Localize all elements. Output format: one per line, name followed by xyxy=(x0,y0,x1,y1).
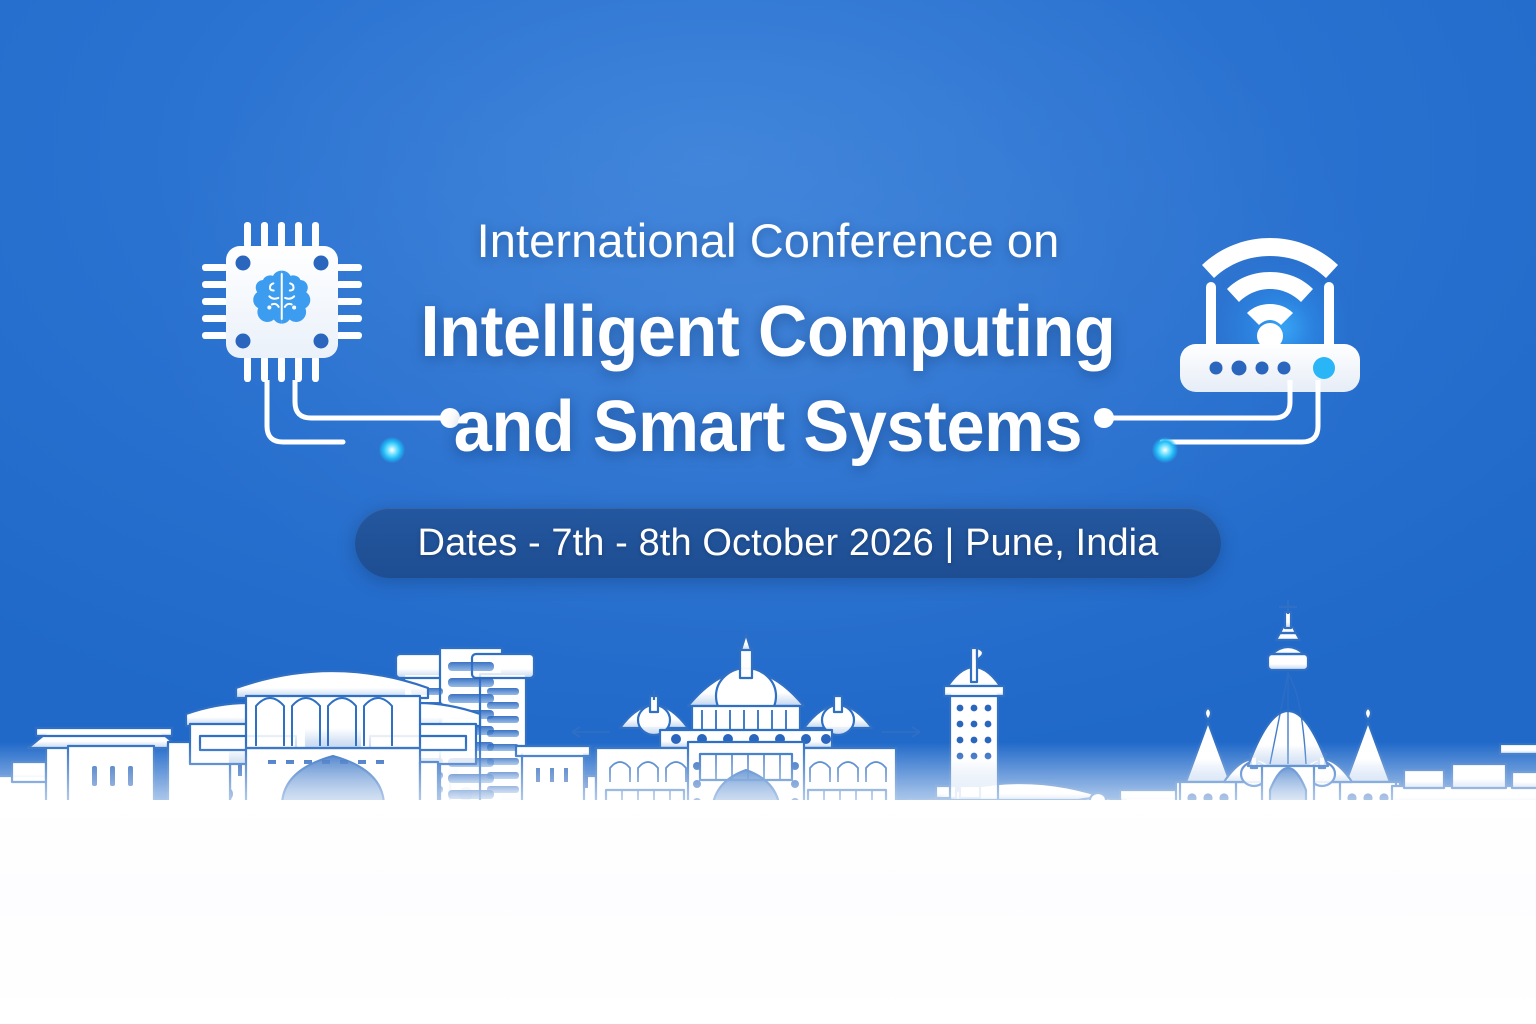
date-location-badge: Dates - 7th - 8th October 2026 | Pune, I… xyxy=(355,508,1221,578)
date-location-text: Dates - 7th - 8th October 2026 | Pune, I… xyxy=(418,522,1159,565)
ai-chip-brain-icon xyxy=(196,216,368,388)
conference-banner: International Conference on Intelligent … xyxy=(0,0,1536,1024)
trace-node-cyan-right xyxy=(1152,437,1178,463)
router-active-light xyxy=(1313,357,1335,379)
trace-node-white-right xyxy=(1094,408,1114,428)
trace-node-cyan-left xyxy=(379,437,405,463)
wifi-signal-icon xyxy=(1202,238,1338,349)
circuit-traces-left xyxy=(240,380,480,480)
ground-area xyxy=(0,800,1536,1024)
trace-node-white-left xyxy=(440,408,460,428)
circuit-traces-right xyxy=(1075,380,1345,480)
wifi-router-icon xyxy=(1172,222,1368,398)
